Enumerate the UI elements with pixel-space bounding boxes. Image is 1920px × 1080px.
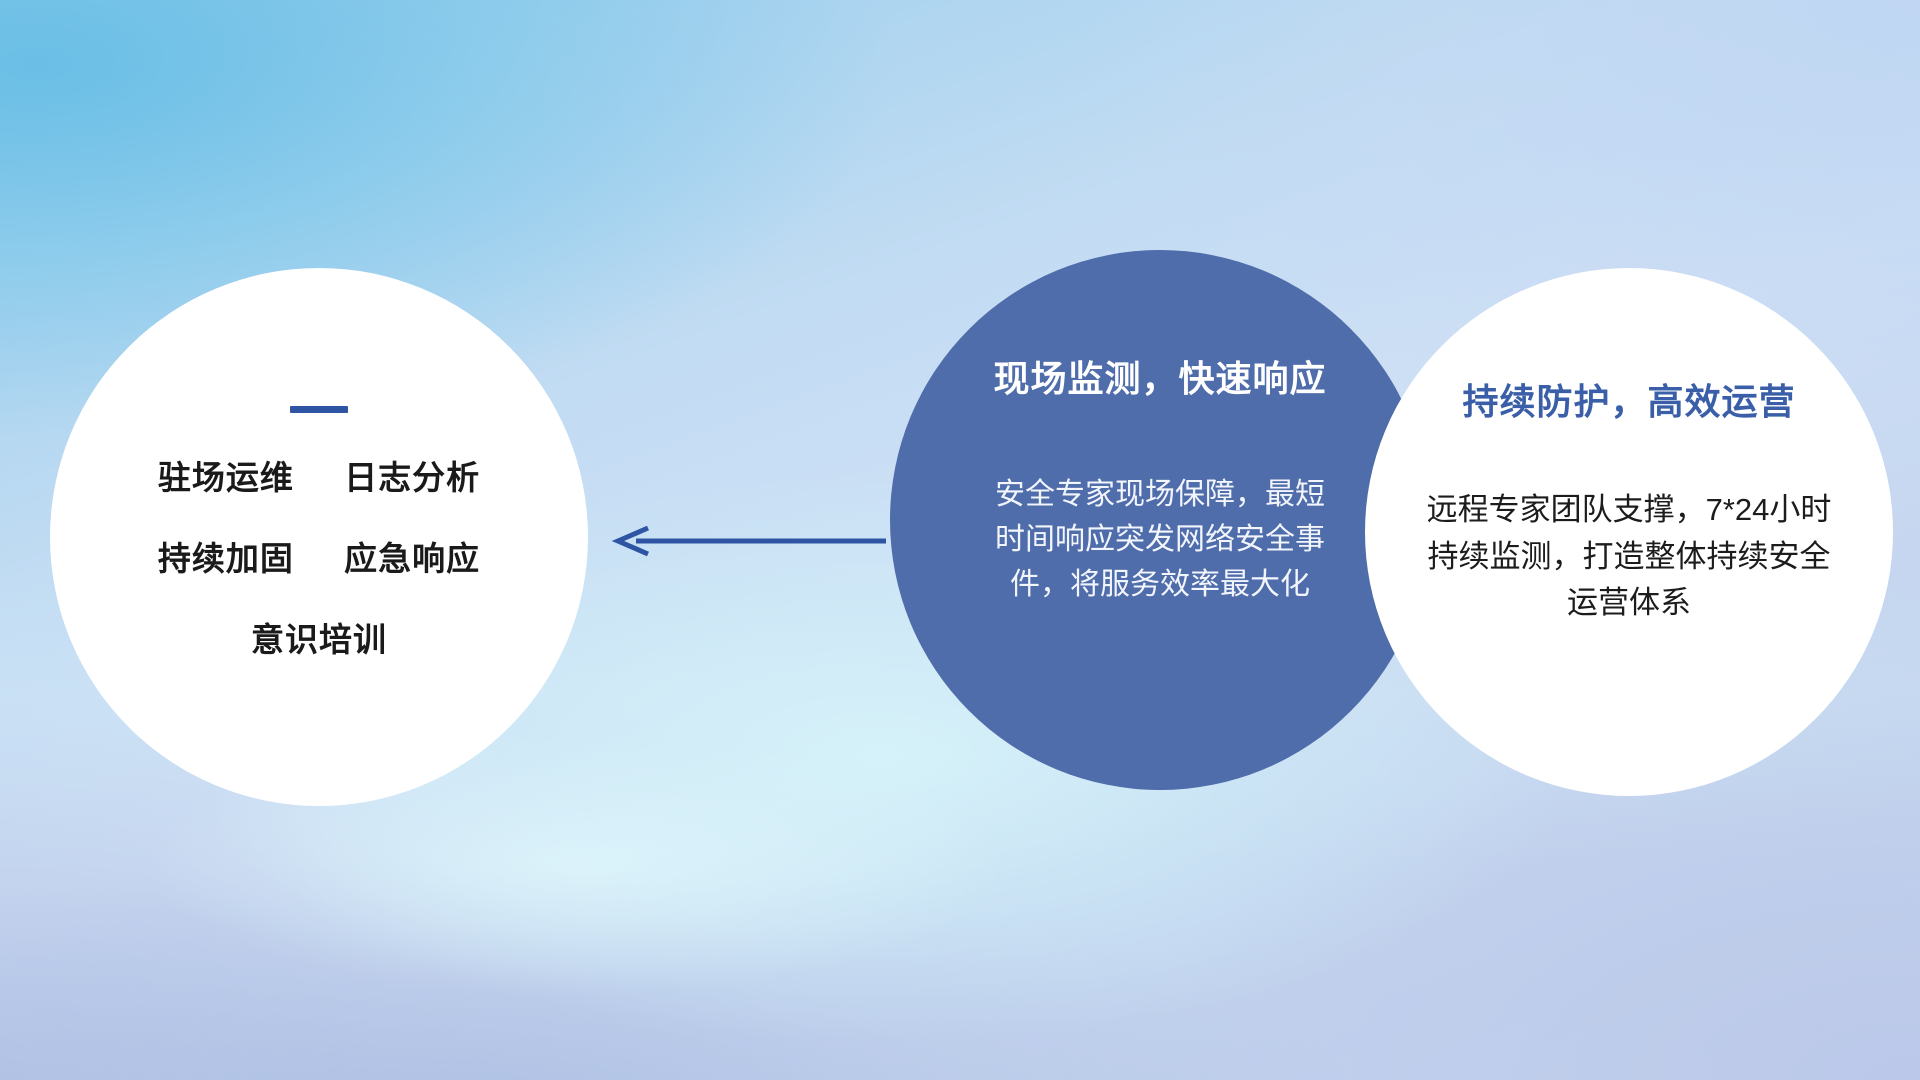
keyword-row: 驻场运维 日志分析: [158, 461, 480, 494]
keyword-row: 意识培训: [251, 623, 387, 656]
onsite-monitoring-content: 现场监测，快速响应 安全专家现场保障，最短时间响应突发网络安全事件，将服务效率最…: [890, 250, 1430, 890]
keyword-chip[interactable]: 日志分析: [344, 459, 480, 496]
keyword-chip[interactable]: 驻场运维: [158, 459, 294, 496]
continuous-protection-content: 持续防护，高效运营 远程专家团队支撑，7*24小时持续监测，打造整体持续安全运营…: [1365, 268, 1893, 901]
keyword-chip[interactable]: 意识培训: [251, 621, 387, 658]
keywords-circle[interactable]: 驻场运维 日志分析 持续加固 应急响应 意识培训: [50, 268, 588, 806]
keywords-circle-content: 驻场运维 日志分析 持续加固 应急响应 意识培训: [50, 268, 588, 944]
continuous-protection-title: 持续防护，高效运营: [1462, 373, 1795, 425]
keyword-row: 持续加固 应急响应: [158, 542, 480, 575]
onsite-monitoring-body: 安全专家现场保障，最短时间响应突发网络安全事件，将服务效率最大化: [995, 472, 1325, 607]
arrow-left-icon: [608, 524, 888, 558]
slide-canvas: 驻场运维 日志分析 持续加固 应急响应 意识培训 现场监测，快速响应 安全专家现…: [0, 0, 1920, 1080]
onsite-monitoring-circle[interactable]: 现场监测，快速响应 安全专家现场保障，最短时间响应突发网络安全事件，将服务效率最…: [890, 250, 1430, 790]
keyword-chip[interactable]: 持续加固: [158, 540, 294, 577]
title-divider-dash: [290, 406, 348, 413]
keyword-chip[interactable]: 应急响应: [344, 540, 480, 577]
continuous-protection-circle[interactable]: 持续防护，高效运营 远程专家团队支撑，7*24小时持续监测，打造整体持续安全运营…: [1365, 268, 1893, 796]
onsite-monitoring-title: 现场监测，快速响应: [993, 350, 1326, 402]
continuous-protection-body: 远程专家团队支撑，7*24小时持续监测，打造整体持续安全运营体系: [1419, 487, 1839, 627]
